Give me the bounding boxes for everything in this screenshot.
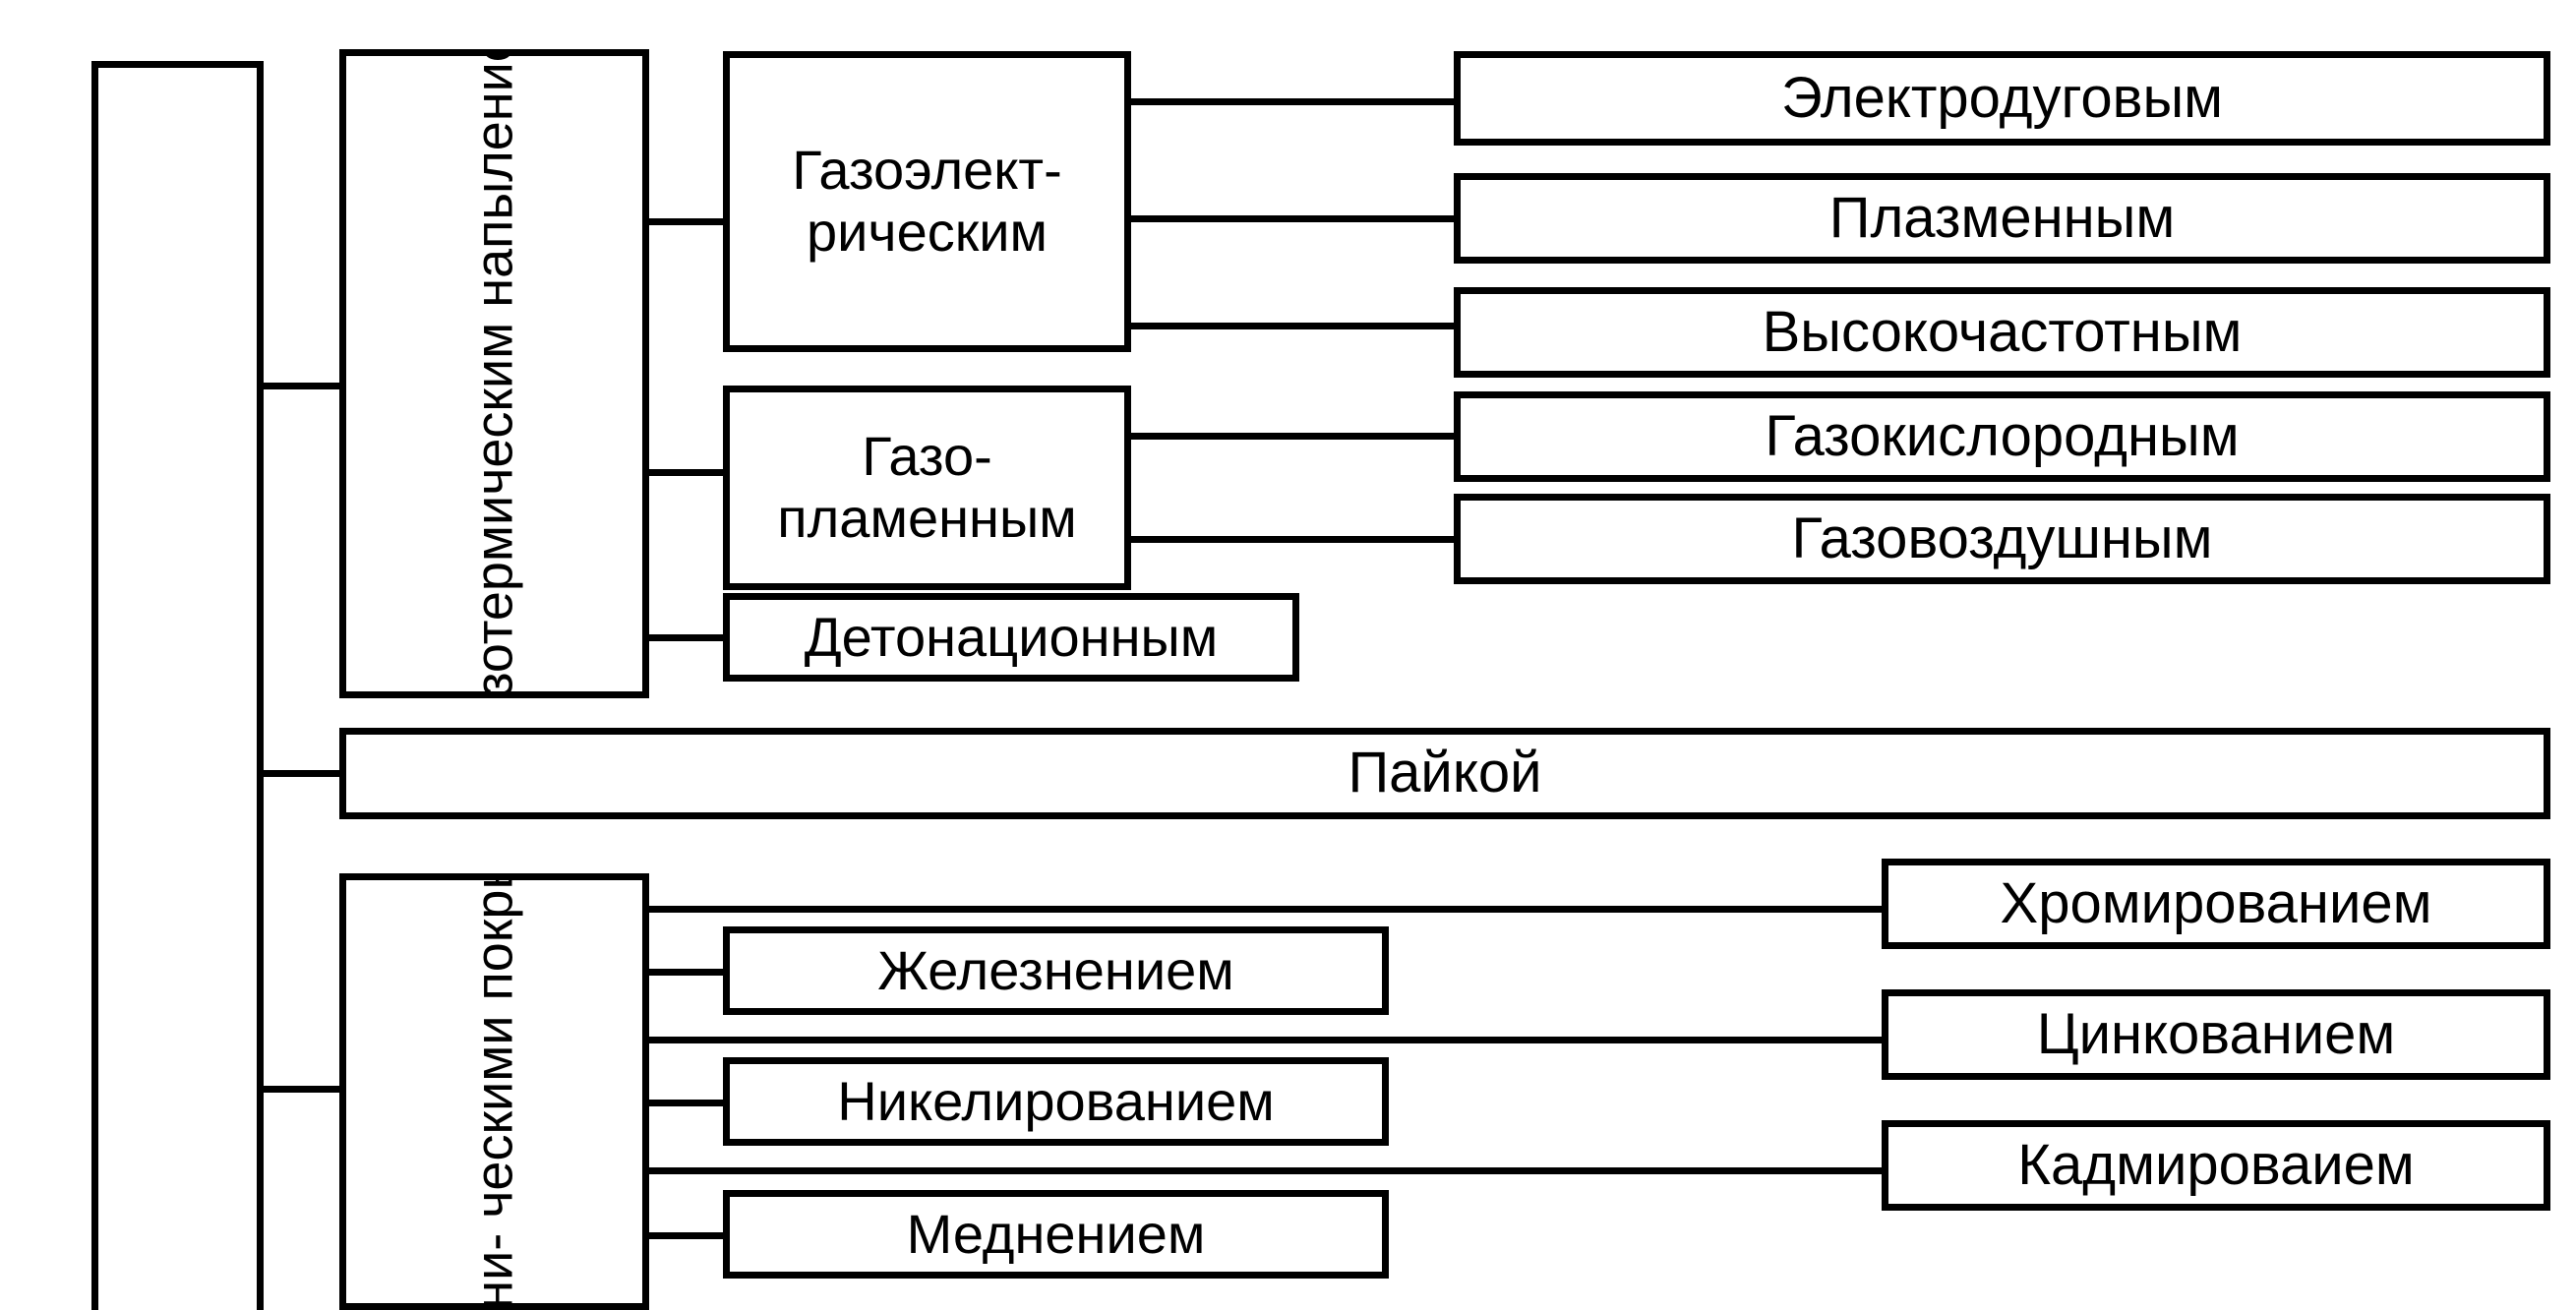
connector-gas-electric-to-electric-arc xyxy=(1127,98,1460,105)
node-plasma-label: Плазменным xyxy=(1829,187,2175,251)
root-bracket xyxy=(91,61,264,1310)
node-chrome-plating[interactable]: Хромированием xyxy=(1882,859,2550,949)
connector-galvanic-to-cadmium-plating xyxy=(644,1167,1886,1174)
node-gas-thermal[interactable]: Газотермическим напылением xyxy=(339,49,649,698)
node-zinc-plating-label: Цинкованием xyxy=(2037,1003,2396,1067)
connector-galvanic-to-zinc-plating xyxy=(644,1037,1886,1043)
node-iron-plating-label: Железнением xyxy=(877,940,1234,1002)
node-electric-arc-label: Электродуговым xyxy=(1781,67,2223,131)
node-high-frequency[interactable]: Высокочастотным xyxy=(1454,287,2550,378)
node-copper-plating-label: Меднением xyxy=(907,1204,1206,1266)
connector-galvanic-to-chrome-plating xyxy=(644,906,1886,913)
connector-gas-thermal-to-gas-electric xyxy=(644,218,728,225)
node-nickel-plating[interactable]: Никелированием xyxy=(723,1057,1389,1146)
node-galvanic[interactable]: Гальвани- ческими покрытиями xyxy=(339,873,649,1310)
connector-gas-flame-to-gas-air xyxy=(1127,536,1460,543)
trunk-stub-galvanic xyxy=(258,1086,346,1093)
node-iron-plating[interactable]: Железнением xyxy=(723,926,1389,1015)
diagram-canvas: Газотермическим напылением Газоэлект- ри… xyxy=(0,0,2576,1310)
node-cadmium-plating[interactable]: Кадмироваием xyxy=(1882,1120,2550,1211)
node-soldering[interactable]: Пайкой xyxy=(339,728,2550,819)
node-gas-electric[interactable]: Газоэлект- рическим xyxy=(723,51,1131,352)
node-electric-arc[interactable]: Электродуговым xyxy=(1454,51,2550,146)
node-gas-thermal-label: Газотермическим напылением xyxy=(463,49,525,698)
node-gas-flame-label: Газо- пламенным xyxy=(777,426,1076,549)
connector-galvanic-to-iron-plating xyxy=(644,969,728,976)
node-copper-plating[interactable]: Меднением xyxy=(723,1190,1389,1279)
node-gas-electric-label: Газоэлект- рическим xyxy=(792,140,1061,263)
node-plasma[interactable]: Плазменным xyxy=(1454,173,2550,264)
node-detonation[interactable]: Детонационным xyxy=(723,593,1299,682)
node-detonation-label: Детонационным xyxy=(805,607,1219,669)
node-gas-flame[interactable]: Газо- пламенным xyxy=(723,386,1131,590)
connector-galvanic-to-nickel-plating xyxy=(644,1100,728,1106)
node-zinc-plating[interactable]: Цинкованием xyxy=(1882,989,2550,1080)
connector-galvanic-to-copper-plating xyxy=(644,1232,728,1239)
connector-gas-electric-to-high-frequency xyxy=(1127,323,1460,329)
node-gas-oxygen-label: Газокислородным xyxy=(1765,405,2239,469)
node-gas-air-label: Газовоздушным xyxy=(1791,507,2212,571)
node-gas-air[interactable]: Газовоздушным xyxy=(1454,494,2550,584)
node-soldering-label: Пайкой xyxy=(1348,742,1541,805)
node-chrome-plating-label: Хромированием xyxy=(2001,872,2432,936)
connector-gas-flame-to-gas-oxygen xyxy=(1127,433,1460,440)
connector-gas-thermal-to-gas-flame xyxy=(644,469,728,476)
node-gas-oxygen[interactable]: Газокислородным xyxy=(1454,391,2550,482)
node-high-frequency-label: Высокочастотным xyxy=(1763,301,2243,365)
node-cadmium-plating-label: Кадмироваием xyxy=(2017,1134,2415,1198)
connector-gas-thermal-to-detonation xyxy=(644,634,728,641)
trunk-stub-gas-thermal xyxy=(258,383,346,389)
trunk-stub-soldering xyxy=(258,770,346,777)
node-nickel-plating-label: Никелированием xyxy=(837,1071,1275,1133)
connector-gas-electric-to-plasma xyxy=(1127,215,1460,222)
node-galvanic-label: Гальвани- ческими покрытиями xyxy=(463,873,525,1310)
